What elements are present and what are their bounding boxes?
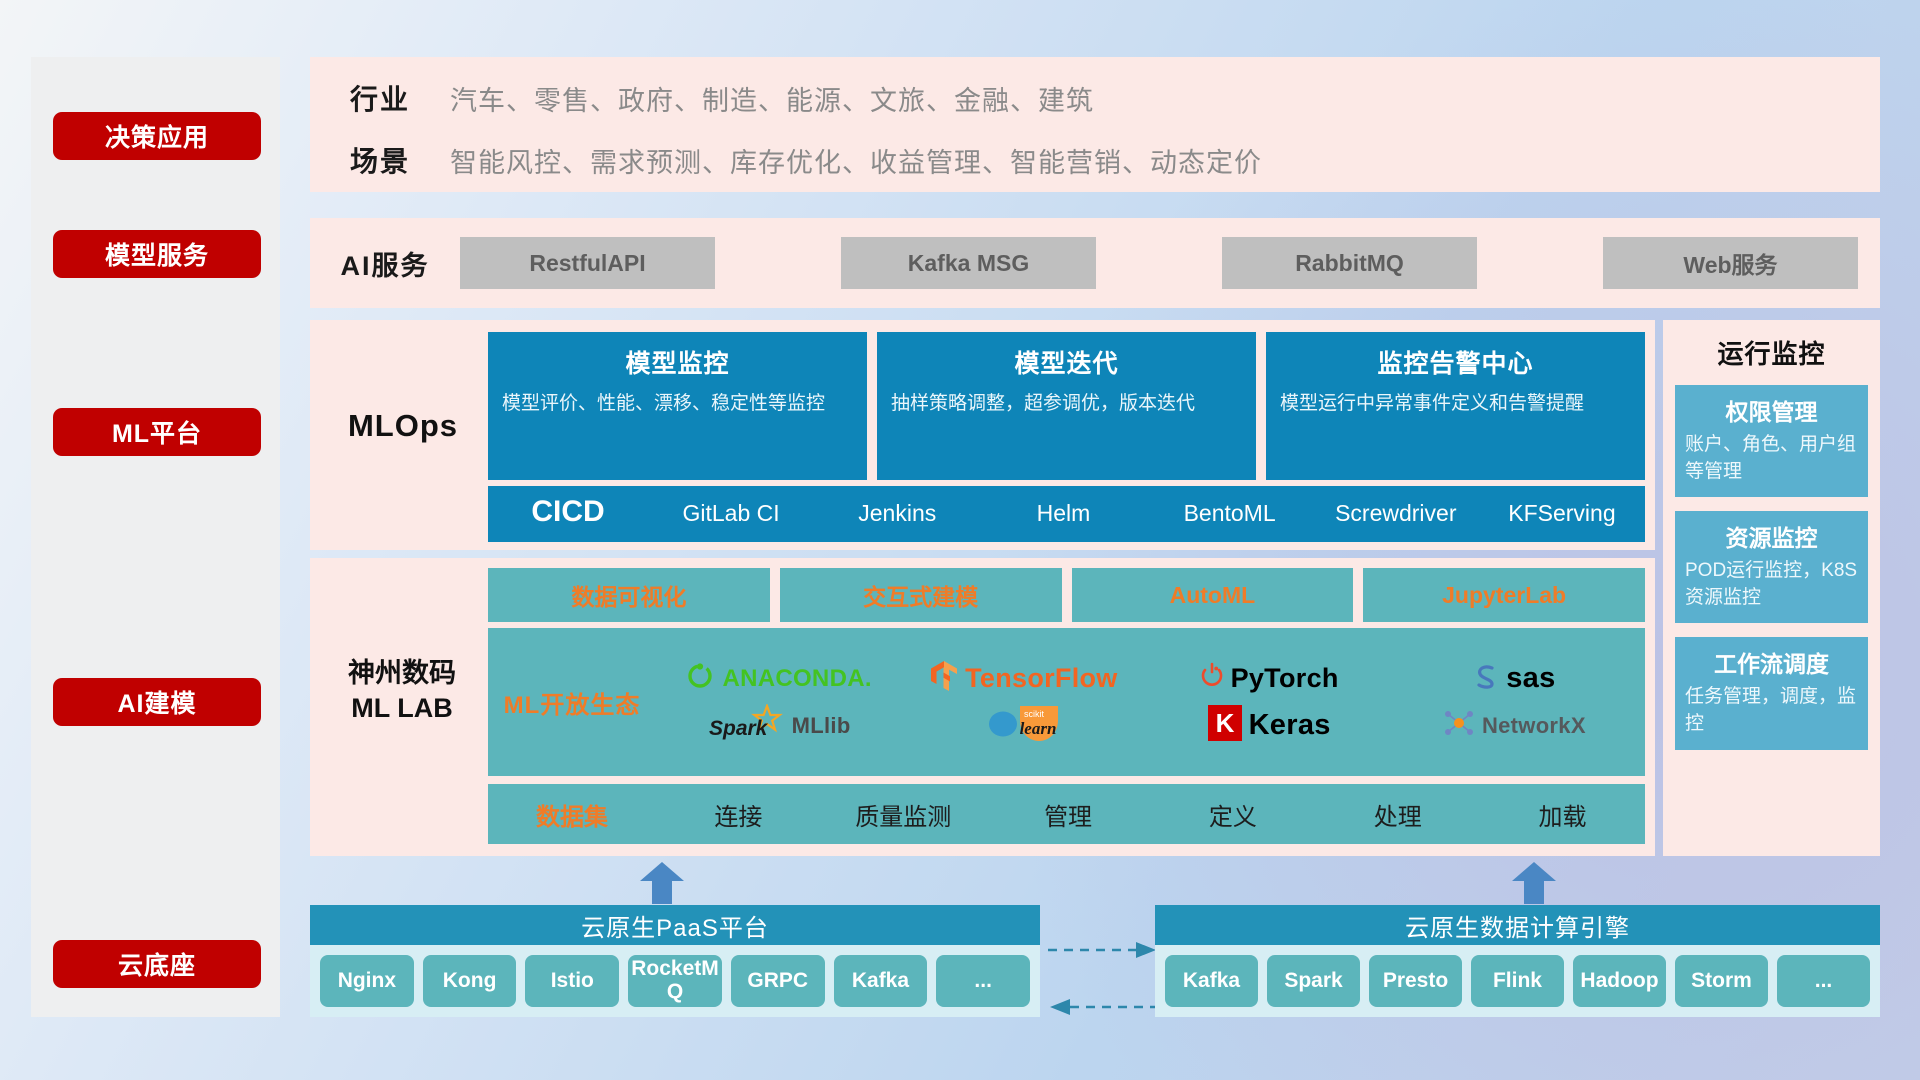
monitoring-card-resources[interactable]: 资源监控 POD运行监控，K8S资源监控 (1675, 511, 1868, 623)
logo-pytorch[interactable]: PyTorch (1200, 661, 1339, 696)
cicd-item-helm[interactable]: Helm (980, 496, 1146, 526)
card-desc: 抽样策略调整，超参调优，版本迭代 (891, 390, 1242, 418)
logo-label: TensorFlow (965, 663, 1118, 694)
ml-lab-tab-jupyterlab[interactable]: JupyterLab (1363, 568, 1645, 622)
mlops-panel: MLOps 模型监控 模型评价、性能、漂移、稳定性等监控 模型迭代 抽样策略调整… (310, 320, 1655, 550)
scenario-values: 智能风控、需求预测、库存优化、收益管理、智能营销、动态定价 (450, 141, 1262, 180)
ml-ecosystem-label: ML开放生态 (488, 685, 656, 720)
monitoring-card-permissions[interactable]: 权限管理 账户、角色、用户组等管理 (1675, 385, 1868, 497)
monitoring-title: 运行监控 (1663, 320, 1880, 371)
up-arrow-data-engine-icon (1512, 862, 1556, 904)
industry-label: 行业 (310, 78, 450, 118)
rail-label: 决策应用 (105, 118, 209, 154)
rail-item-model-service[interactable]: 模型服务 (53, 230, 261, 278)
logo-scikit-learn[interactable]: scikit learn (986, 702, 1062, 749)
mlops-card-model-iteration[interactable]: 模型迭代 抽样策略调整，超参调优，版本迭代 (877, 332, 1256, 480)
ai-service-panel: AI服务 RestfulAPI Kafka MSG RabbitMQ Web服务 (310, 218, 1880, 308)
dataset-item-manage[interactable]: 管理 (986, 797, 1151, 832)
dataset-item-connect[interactable]: 连接 (656, 797, 821, 832)
decision-apps-panel: 行业 汽车、零售、政府、制造、能源、文旅、金融、建筑 场景 智能风控、需求预测、… (310, 57, 1880, 192)
architecture-diagram: 决策应用 模型服务 ML平台 AI建模 云底座 行业 汽车、零售、政府、制造、能… (0, 0, 1920, 1080)
card-desc: POD运行监控，K8S资源监控 (1685, 558, 1858, 611)
runtime-monitoring-panel: 运行监控 权限管理 账户、角色、用户组等管理 资源监控 POD运行监控，K8S资… (1663, 320, 1880, 856)
data-engine-chip-kafka[interactable]: Kafka (1165, 955, 1258, 1007)
svg-text:K: K (1215, 708, 1234, 738)
keras-icon: K (1208, 705, 1242, 746)
data-engine-chip-more[interactable]: ... (1777, 955, 1870, 1007)
cicd-item-jenkins[interactable]: Jenkins (814, 496, 980, 526)
dataset-item-define[interactable]: 定义 (1150, 797, 1315, 832)
ai-service-chip-kafka-msg[interactable]: Kafka MSG (841, 237, 1096, 289)
mlops-card-track: 模型监控 模型评价、性能、漂移、稳定性等监控 模型迭代 抽样策略调整，超参调优，… (488, 332, 1645, 480)
rail-label: ML平台 (112, 414, 202, 450)
card-title: 工作流调度 (1685, 645, 1858, 679)
scikit-icon: scikit learn (986, 702, 1062, 749)
logo-label: PyTorch (1231, 663, 1339, 694)
mlops-label: MLOps (328, 408, 478, 444)
paas-chip-grpc[interactable]: GRPC (731, 955, 825, 1007)
svg-text:Spark: Spark (709, 717, 769, 740)
svg-text:learn: learn (1019, 719, 1056, 738)
ml-lab-label: 神州数码 ML LAB (322, 656, 482, 725)
card-title: 模型迭代 (891, 344, 1242, 380)
data-engine-chip-flink[interactable]: Flink (1471, 955, 1564, 1007)
dashed-arrow-left-icon (1048, 995, 1158, 1019)
industry-row: 行业 汽车、零售、政府、制造、能源、文旅、金融、建筑 (310, 71, 1880, 125)
svg-text:scikit: scikit (1024, 709, 1044, 719)
paas-chip-track: Nginx Kong Istio RocketMQ GRPC Kafka ... (310, 945, 1040, 1017)
ml-lab-tab-automl[interactable]: AutoML (1072, 568, 1354, 622)
card-title: 监控告警中心 (1280, 344, 1631, 380)
cicd-bar: CICD GitLab CI Jenkins Helm BentoML Scre… (488, 486, 1645, 542)
ml-lab-tab-data-visualization[interactable]: 数据可视化 (488, 568, 770, 622)
mlops-card-model-monitoring[interactable]: 模型监控 模型评价、性能、漂移、稳定性等监控 (488, 332, 867, 480)
data-engine-chip-hadoop[interactable]: Hadoop (1573, 955, 1666, 1007)
card-desc: 任务管理，调度，监控 (1685, 684, 1858, 737)
card-title: 资源监控 (1685, 519, 1858, 553)
ml-lab-label-line1: 神州数码 (322, 656, 482, 691)
card-desc: 模型运行中异常事件定义和告警提醒 (1280, 390, 1631, 418)
data-engine-chip-presto[interactable]: Presto (1369, 955, 1462, 1007)
paas-chip-rocketmq[interactable]: RocketMQ (628, 955, 722, 1007)
data-engine-chip-spark[interactable]: Spark (1267, 955, 1360, 1007)
dataset-band: 数据集 连接 质量监测 管理 定义 处理 加载 (488, 784, 1645, 844)
ml-lab-label-line2: ML LAB (322, 691, 482, 726)
data-engine-title: 云原生数据计算引擎 (1155, 905, 1880, 945)
logo-label: ANACONDA. (722, 665, 871, 693)
rail-label: 模型服务 (105, 236, 209, 272)
sas-icon (1473, 662, 1499, 695)
rail-item-decision-apps[interactable]: 决策应用 (53, 112, 261, 160)
logo-label: Keras (1249, 709, 1331, 742)
logo-spark-mllib[interactable]: Spark MLlib (707, 704, 851, 747)
logo-sas[interactable]: sas (1473, 662, 1555, 695)
logo-label: MLlib (792, 713, 851, 739)
anaconda-icon (685, 661, 715, 696)
cicd-item-screwdriver[interactable]: Screwdriver (1313, 496, 1479, 526)
ml-lab-panel: 神州数码 ML LAB 数据可视化 交互式建模 AutoML JupyterLa… (310, 558, 1655, 856)
scenario-label: 场景 (310, 140, 450, 180)
logo-keras[interactable]: K Keras (1208, 705, 1331, 746)
ml-lab-tab-track: 数据可视化 交互式建模 AutoML JupyterLab (488, 568, 1645, 622)
ai-service-label: AI服务 (310, 244, 460, 283)
cicd-title: CICD (488, 496, 648, 528)
dataset-item-quality[interactable]: 质量监测 (821, 797, 986, 832)
ai-service-chip-track: RestfulAPI Kafka MSG RabbitMQ Web服务 (460, 237, 1880, 289)
paas-chip-kong[interactable]: Kong (423, 955, 517, 1007)
cicd-item-bentoml[interactable]: BentoML (1147, 496, 1313, 526)
rail-label: 云底座 (118, 946, 196, 982)
data-engine-chip-storm[interactable]: Storm (1675, 955, 1768, 1007)
logo-tensorflow[interactable]: TensorFlow (930, 660, 1118, 697)
rail-item-ai-modeling[interactable]: AI建模 (53, 678, 261, 726)
spark-icon: Spark (707, 704, 785, 747)
cloud-native-data-engine-block: 云原生数据计算引擎 Kafka Spark Presto Flink Hadoo… (1155, 905, 1880, 1017)
paas-chip-more[interactable]: ... (936, 955, 1030, 1007)
up-arrow-paas-icon (640, 862, 684, 904)
logo-label: sas (1506, 662, 1555, 695)
data-engine-chip-track: Kafka Spark Presto Flink Hadoop Storm ..… (1155, 945, 1880, 1017)
industry-values: 汽车、零售、政府、制造、能源、文旅、金融、建筑 (450, 79, 1094, 118)
cicd-item-gitlab-ci[interactable]: GitLab CI (648, 496, 814, 526)
paas-title: 云原生PaaS平台 (310, 905, 1040, 945)
mlops-card-alert-center[interactable]: 监控告警中心 模型运行中异常事件定义和告警提醒 (1266, 332, 1645, 480)
dataset-item-load[interactable]: 加载 (1480, 797, 1645, 832)
ml-ecosystem-logo-grid: ANACONDA. TensorFlow (656, 655, 1645, 749)
rail-item-cloud-base[interactable]: 云底座 (53, 940, 261, 988)
logo-anaconda[interactable]: ANACONDA. (685, 661, 871, 696)
cloud-native-paas-block: 云原生PaaS平台 Nginx Kong Istio RocketMQ GRPC… (310, 905, 1040, 1017)
card-title: 权限管理 (1685, 393, 1858, 427)
card-title: 模型监控 (502, 344, 853, 380)
pytorch-icon (1200, 661, 1224, 696)
ml-lab-tab-interactive-modeling[interactable]: 交互式建模 (780, 568, 1062, 622)
rail-label: AI建模 (117, 684, 196, 720)
ai-service-chip-restfulapi[interactable]: RestfulAPI (460, 237, 715, 289)
dataset-item-process[interactable]: 处理 (1315, 797, 1480, 832)
logo-networkx[interactable]: NetworkX (1443, 707, 1586, 744)
ai-service-chip-rabbitmq[interactable]: RabbitMQ (1222, 237, 1477, 289)
dashed-arrow-right-icon (1048, 938, 1158, 962)
paas-chip-nginx[interactable]: Nginx (320, 955, 414, 1007)
paas-chip-istio[interactable]: Istio (525, 955, 619, 1007)
scenario-row: 场景 智能风控、需求预测、库存优化、收益管理、智能营销、动态定价 (310, 133, 1880, 187)
paas-chip-kafka[interactable]: Kafka (834, 955, 928, 1007)
cicd-item-kfserving[interactable]: KFServing (1479, 496, 1645, 526)
monitoring-card-workflow[interactable]: 工作流调度 任务管理，调度，监控 (1675, 637, 1868, 749)
rail-item-ml-platform[interactable]: ML平台 (53, 408, 261, 456)
ml-ecosystem-band: ML开放生态 ANACONDA. (488, 628, 1645, 776)
logo-label: NetworkX (1482, 713, 1586, 739)
ai-service-chip-web-service[interactable]: Web服务 (1603, 237, 1858, 289)
layer-rail: 决策应用 模型服务 ML平台 AI建模 云底座 (31, 57, 280, 1017)
dataset-label: 数据集 (488, 797, 656, 832)
tensorflow-icon (930, 660, 958, 697)
card-desc: 账户、角色、用户组等管理 (1685, 432, 1858, 485)
networkx-icon (1443, 707, 1475, 744)
card-desc: 模型评价、性能、漂移、稳定性等监控 (502, 390, 853, 418)
